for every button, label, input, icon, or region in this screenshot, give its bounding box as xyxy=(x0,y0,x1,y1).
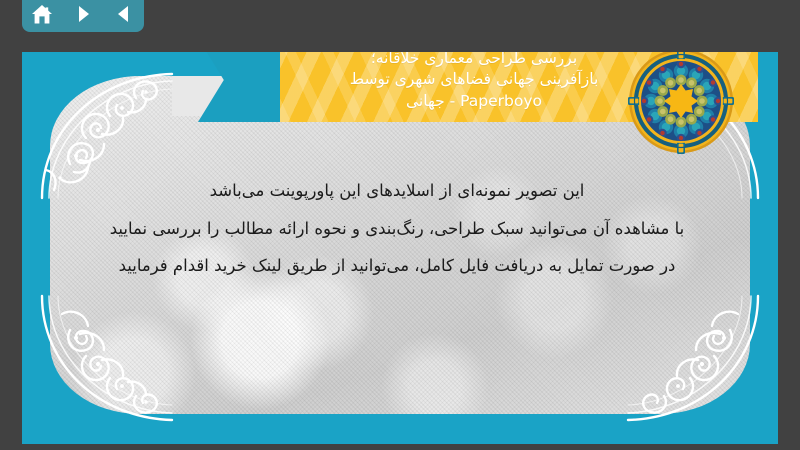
slide-title-line-1: بررسی طراحی معماری خلاقانه؛ xyxy=(371,52,577,69)
triangle-right-icon xyxy=(73,4,93,24)
next-slide-button[interactable] xyxy=(68,0,98,28)
body-line-3: در صورت تمایل به دریافت فایل کامل، می‌تو… xyxy=(72,247,722,285)
body-line-2: با مشاهده آن می‌توانید سبک طراحی، رنگ‌بن… xyxy=(72,210,722,248)
slide-title-line-3: Paperboyo - جهانی xyxy=(406,91,542,112)
home-button[interactable] xyxy=(27,0,57,28)
home-icon xyxy=(31,4,53,25)
slide-viewer: بررسی طراحی معماری خلاقانه؛ بازآفرینی جه… xyxy=(0,0,800,450)
slide-canvas: بررسی طراحی معماری خلاقانه؛ بازآفرینی جه… xyxy=(22,52,778,444)
persian-mandala-medallion-icon xyxy=(628,52,734,154)
triangle-left-icon xyxy=(114,4,134,24)
slide-title-line-2: بازآفرینی جهانی فضاهای شهری توسط xyxy=(350,69,599,90)
previous-slide-button[interactable] xyxy=(109,0,139,28)
slide-navigation-bar xyxy=(22,0,144,32)
slide-body-text: این تصویر نمونه‌ای از اسلایدهای این پاور… xyxy=(72,172,722,285)
body-line-1: این تصویر نمونه‌ای از اسلایدهای این پاور… xyxy=(72,172,722,210)
